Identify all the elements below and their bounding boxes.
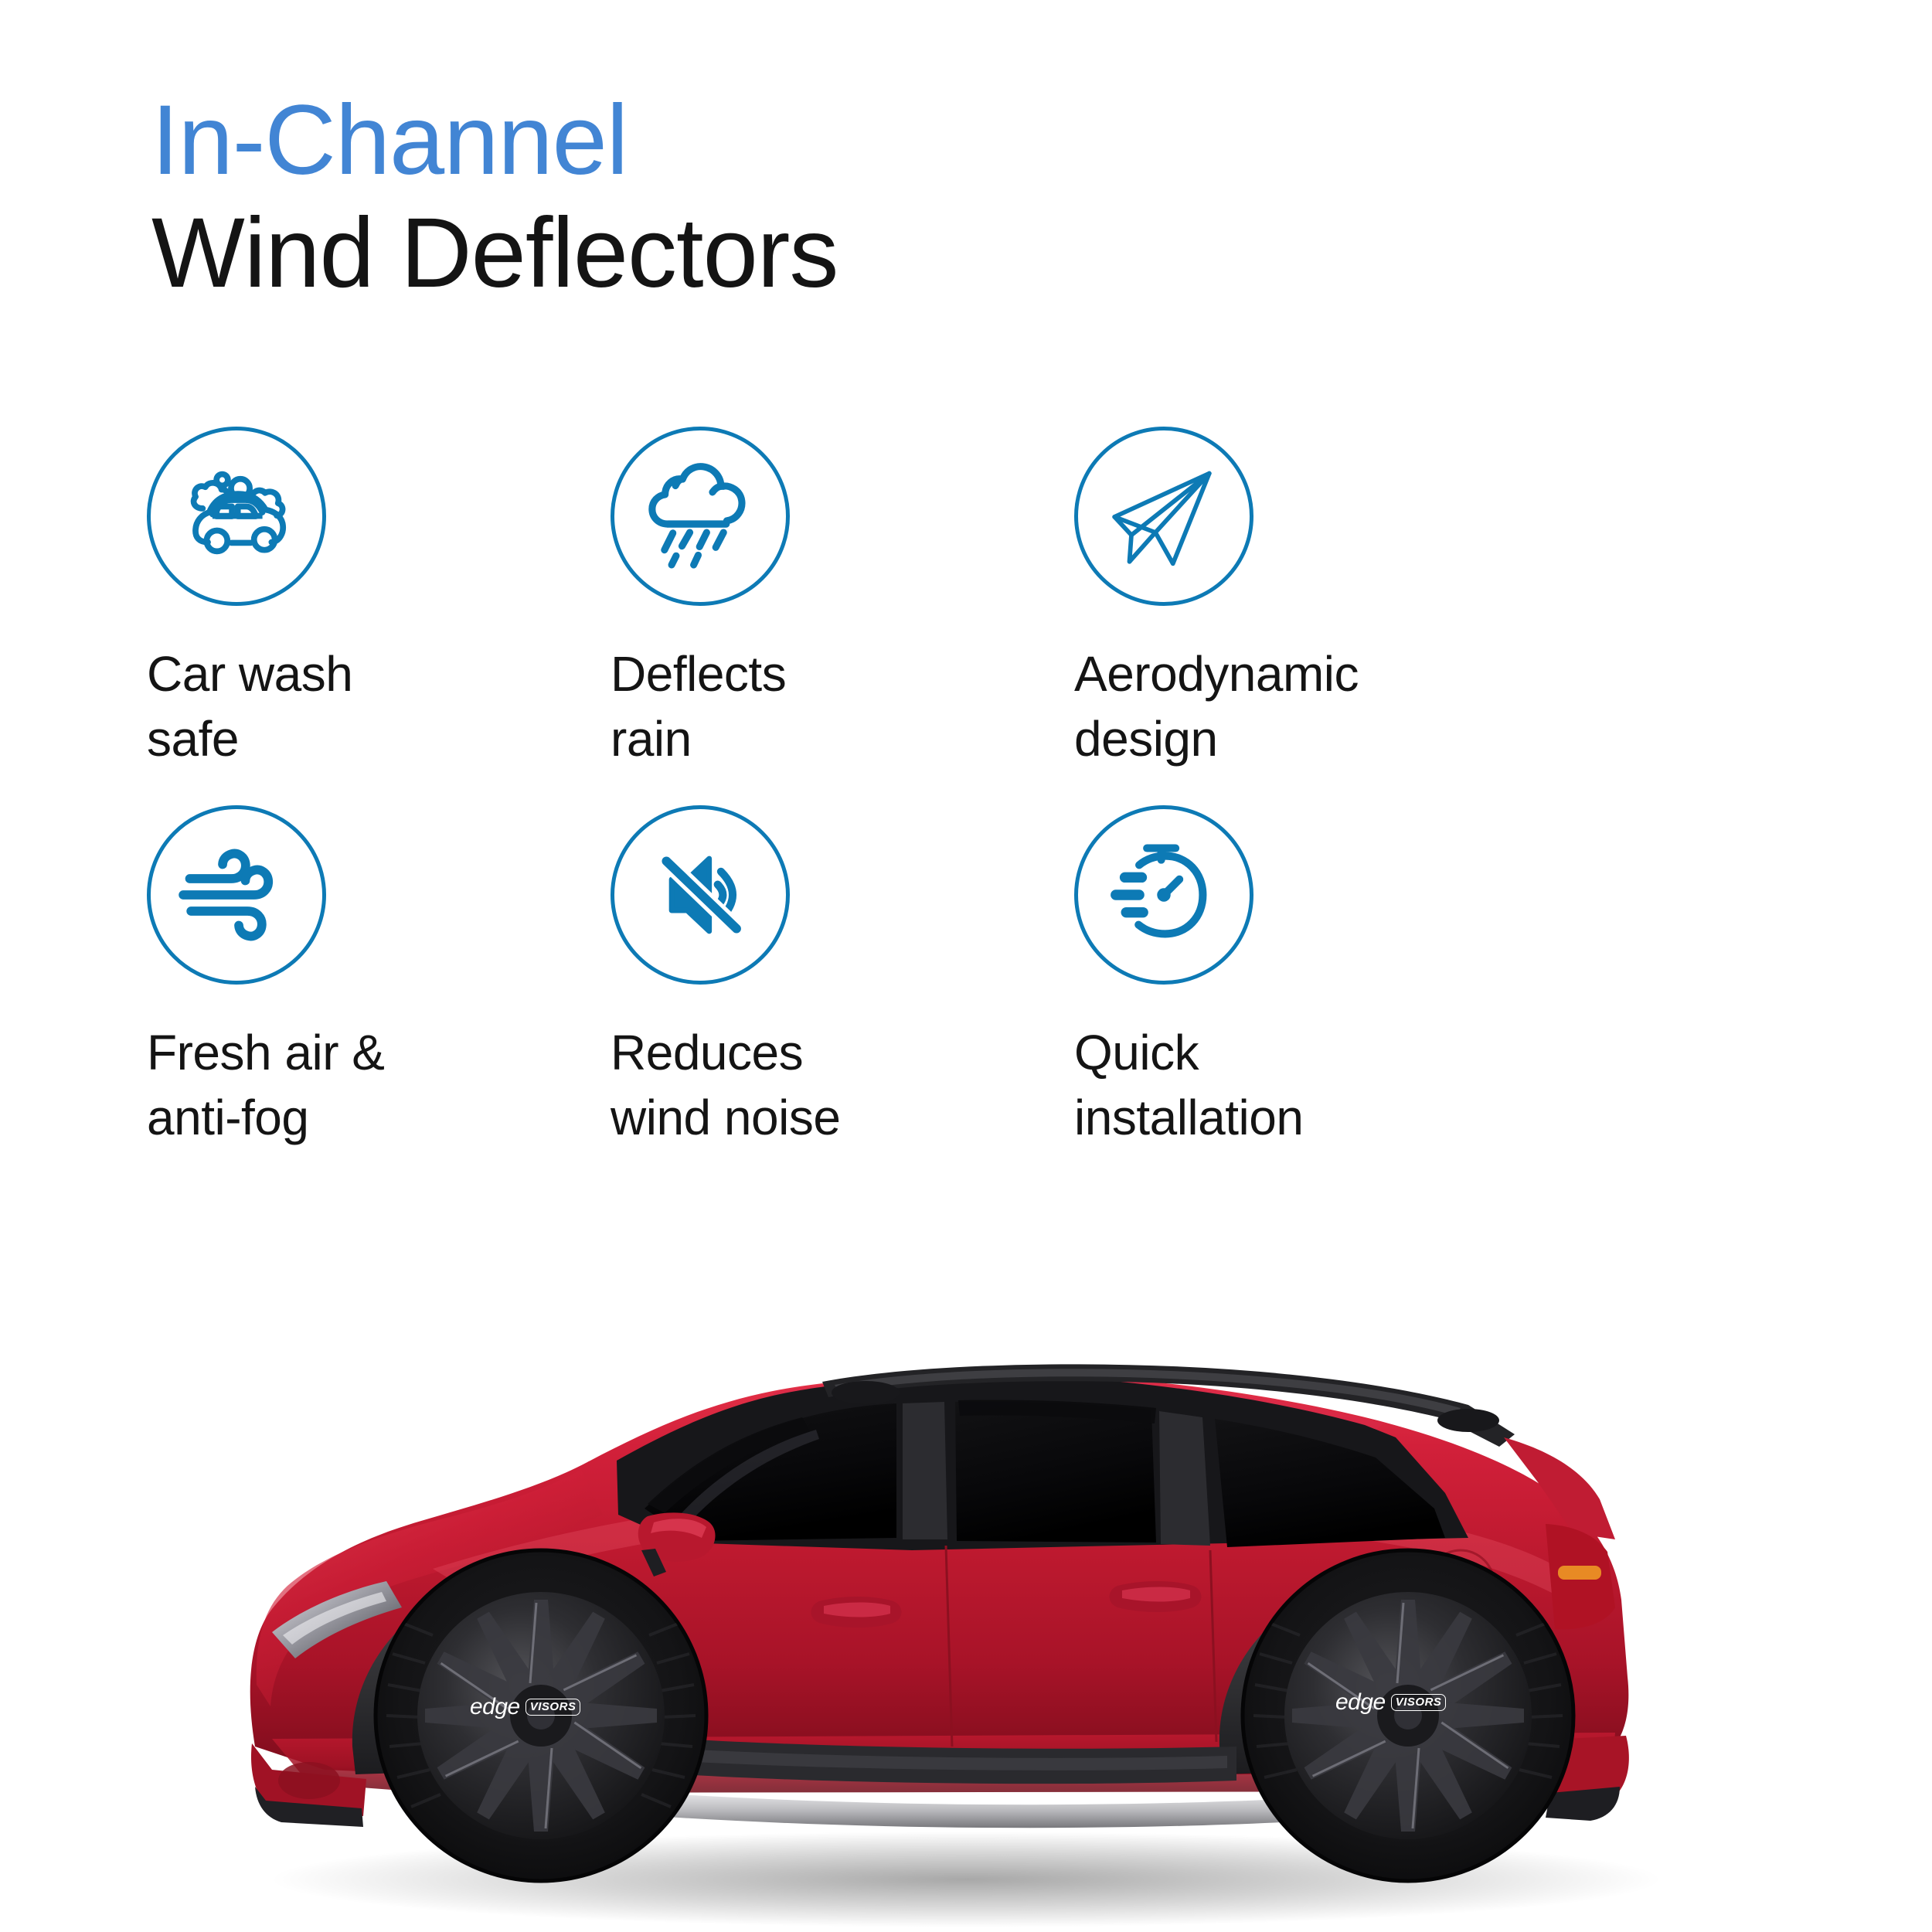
feature-label-line-2: design	[1074, 706, 1538, 771]
fog-lamp	[278, 1762, 340, 1799]
product-feature-poster: In-Channel Wind Deflectors	[0, 0, 1932, 1932]
front-hub-cap	[527, 1702, 555, 1730]
feature-quick-installation: Quick installation	[1074, 805, 1538, 1184]
feature-label-line-1: Quick	[1074, 1025, 1199, 1080]
front-wheel	[376, 1550, 706, 1881]
feature-aerodynamic-design: Aerodynamic design	[1074, 427, 1538, 805]
running-board	[654, 1793, 1314, 1828]
page-title: In-Channel Wind Deflectors	[151, 91, 1388, 308]
feature-label-line-1: Aerodynamic	[1074, 646, 1359, 702]
front-door-handle-highlight	[824, 1603, 890, 1617]
mute-speaker-icon	[611, 805, 790, 985]
feature-label-line-2: wind noise	[611, 1085, 1074, 1150]
rear-door-handle-highlight	[1122, 1587, 1190, 1602]
feature-label: Aerodynamic design	[1074, 641, 1538, 772]
title-line-secondary: Wind Deflectors	[151, 198, 1388, 308]
feature-label: Fresh air & anti-fog	[147, 1020, 611, 1151]
rear-wheel	[1243, 1550, 1573, 1881]
feature-reduces-wind-noise: Reduces wind noise	[611, 805, 1074, 1184]
feature-fresh-air-anti-fog: Fresh air & anti-fog	[147, 805, 611, 1184]
rain-cloud-icon	[611, 427, 790, 606]
feature-label: Quick installation	[1074, 1020, 1538, 1151]
rear-hub-cap	[1394, 1702, 1422, 1730]
feature-deflects-rain: Deflects rain	[611, 427, 1074, 805]
feature-grid: Car wash safe	[147, 427, 1507, 1184]
stopwatch-icon	[1074, 805, 1253, 985]
rear-door-glass	[955, 1401, 1156, 1543]
feature-label-line-1: Deflects	[611, 646, 786, 702]
feature-label-line-2: anti-fog	[147, 1085, 611, 1150]
paper-plane-icon	[1074, 427, 1253, 606]
c-pillar	[1159, 1411, 1210, 1546]
feature-label-line-1: Fresh air &	[147, 1025, 384, 1080]
feature-label-line-2: installation	[1074, 1085, 1538, 1150]
feature-label-line-1: Car wash	[147, 646, 352, 702]
b-pillar	[903, 1402, 947, 1539]
title-line-primary: In-Channel	[151, 91, 1388, 190]
turn-indicator	[1558, 1566, 1601, 1580]
wind-flow-icon	[147, 805, 326, 985]
feature-label: Car wash safe	[147, 641, 611, 772]
feature-label: Deflects rain	[611, 641, 1074, 772]
car-wash-icon	[147, 427, 326, 606]
red-suv-illustration	[0, 1206, 1932, 1932]
product-vehicle-image	[0, 1206, 1932, 1932]
feature-car-wash-safe: Car wash safe	[147, 427, 611, 805]
feature-label-line-2: safe	[147, 706, 611, 771]
feature-label-line-2: rain	[611, 706, 1074, 771]
feature-label-line-1: Reduces	[611, 1025, 803, 1080]
feature-label: Reduces wind noise	[611, 1020, 1074, 1151]
